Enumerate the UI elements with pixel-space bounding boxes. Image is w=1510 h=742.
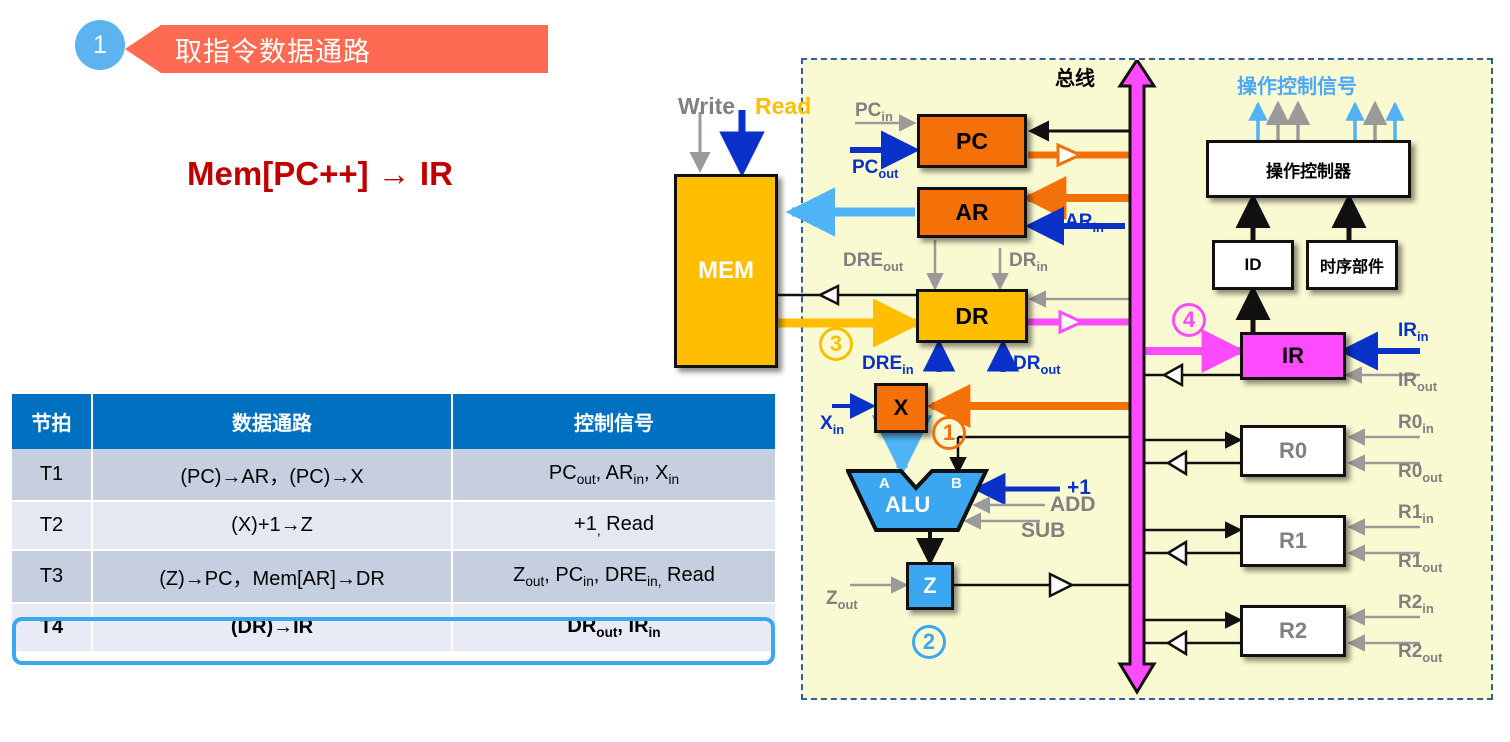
ar-in-signal-label: ARin: [1065, 211, 1104, 235]
step-marker-4: 4: [1172, 303, 1206, 337]
step-marker-3: 3: [819, 327, 853, 361]
alu-port-a-label: A: [879, 475, 890, 492]
dre-in-signal-label: DREin: [862, 353, 914, 377]
step-marker-2: 2: [912, 625, 946, 659]
x-register[interactable]: X: [874, 383, 928, 433]
step-marker-1: 1: [932, 416, 966, 450]
timing-unit-block[interactable]: 时序部件: [1306, 240, 1398, 290]
bus-label: 总线: [1055, 62, 1095, 91]
ir-in-signal-label: IRin: [1398, 320, 1428, 344]
pc-register[interactable]: PC: [917, 114, 1027, 168]
ir-out-signal-label: IRout: [1398, 370, 1437, 394]
r0-register[interactable]: R0: [1240, 425, 1346, 477]
ir-register[interactable]: IR: [1240, 332, 1346, 380]
r0-in-signal-label: R0in: [1398, 412, 1434, 436]
dr-in-signal-label: DRin: [1009, 250, 1048, 274]
r1-register[interactable]: R1: [1240, 515, 1346, 567]
r2-in-signal-label: R2in: [1398, 592, 1434, 616]
dr-out-signal-label: DRout: [1013, 353, 1061, 377]
dr-register[interactable]: DR: [916, 289, 1028, 343]
id-block[interactable]: ID: [1212, 240, 1294, 290]
pc-in-signal-label: PCin: [855, 100, 893, 124]
sub-signal-label: SUB: [1021, 519, 1065, 543]
write-label: Write: [678, 93, 735, 120]
dre-out-signal-label: DREout: [843, 250, 903, 274]
read-label: Read: [755, 93, 811, 120]
operation-controller-block[interactable]: 操作控制器: [1206, 140, 1411, 198]
x-in-signal-label: Xin: [820, 413, 844, 437]
control-signal-label: 操作控制信号: [1237, 70, 1357, 99]
z-register[interactable]: Z: [906, 562, 954, 610]
r1-out-signal-label: R1out: [1398, 551, 1442, 575]
pc-out-signal-label: PCout: [852, 157, 898, 181]
z-out-signal-label: Zout: [826, 588, 858, 612]
add-signal-label: ADD: [1050, 493, 1096, 517]
r1-in-signal-label: R1in: [1398, 502, 1434, 526]
alu-port-b-label: B: [951, 475, 962, 492]
r2-register[interactable]: R2: [1240, 605, 1346, 657]
alu-label: ALU: [885, 492, 930, 518]
r2-out-signal-label: R2out: [1398, 641, 1442, 665]
ar-register[interactable]: AR: [917, 187, 1027, 238]
mem-block[interactable]: MEM: [674, 174, 778, 368]
r0-out-signal-label: R0out: [1398, 461, 1442, 485]
system-bus: [1110, 60, 1170, 700]
